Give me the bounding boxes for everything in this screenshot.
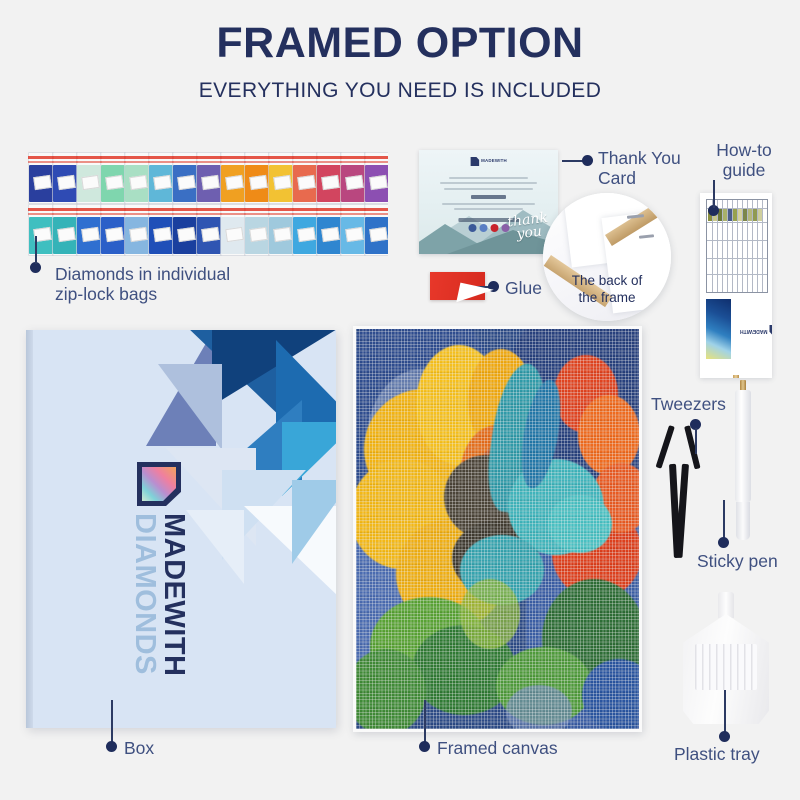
bag-zip-seal-2 [148, 161, 174, 163]
zip-lock-bag [52, 204, 78, 256]
card-brand-name: MADEWITH [481, 159, 507, 164]
bag-zip-seal [124, 208, 150, 211]
zip-lock-bag [244, 152, 270, 204]
zip-lock-bag [100, 204, 126, 256]
bag-zip-seal-2 [244, 213, 270, 215]
bag-zip-seal [76, 156, 102, 159]
bag-zip-seal-2 [124, 213, 150, 215]
infographic-stage: FRAMED OPTION EVERYTHING YOU NEED IS INC… [0, 0, 800, 800]
zip-lock-bag [364, 152, 388, 204]
bag-label-tag [297, 175, 315, 190]
card-promo-code [471, 195, 507, 199]
bag-zip-seal-2 [364, 161, 388, 163]
bag-label-tag [129, 175, 147, 190]
framed-canvas [353, 326, 642, 732]
bag-zip-seal-2 [148, 213, 174, 215]
bag-zip-seal [172, 156, 198, 159]
page-subtitle: EVERYTHING YOU NEED IS INCLUDED [0, 80, 800, 101]
bag-zip-seal [100, 156, 126, 159]
zip-lock-bag [52, 152, 78, 204]
bag-zip-seal-2 [268, 161, 294, 163]
bag-zip-seal [292, 156, 318, 159]
thank-you-card: MADEWITH thank you [419, 150, 558, 254]
card-body-text [436, 174, 542, 213]
zip-lock-bag [364, 204, 388, 256]
bag-zip-seal [316, 156, 342, 159]
bag-label-tag [105, 175, 123, 190]
zip-lock-bag [340, 152, 366, 204]
bag-zip-seal-2 [340, 161, 366, 163]
bag-label-tag [273, 227, 291, 242]
bag-zip-seal [244, 156, 270, 159]
bag-zip-seal-2 [268, 213, 294, 215]
bag-zip-seal [52, 208, 78, 211]
bag-zip-seal [340, 156, 366, 159]
bag-label-tag [201, 175, 219, 190]
zip-lock-bag [28, 204, 54, 256]
callout-label-how-to: How-to guide [694, 140, 794, 180]
zip-lock-bag [28, 152, 54, 204]
bag-zip-seal-2 [100, 213, 126, 215]
bag-zip-seal-2 [28, 213, 54, 215]
bag-label-tag [297, 227, 315, 242]
bag-zip-seal-2 [172, 213, 198, 215]
box-spine-edge [26, 330, 33, 728]
how-to-guide: MADEWITH [700, 193, 772, 378]
bag-zip-seal [148, 156, 174, 159]
callout-label-box: Box [124, 738, 154, 758]
bag-label-tag [225, 227, 243, 242]
diamond-gem-icon [770, 325, 773, 335]
callout-line-box [111, 700, 113, 744]
bag-label-tag [177, 227, 195, 242]
zip-lock-bag [316, 152, 342, 204]
callout-line-diamonds [35, 236, 37, 264]
twitter-icon [479, 224, 487, 232]
zip-lock-bag-row-top [28, 152, 388, 204]
zip-lock-bag [292, 204, 318, 256]
zip-lock-bag [172, 204, 198, 256]
zip-lock-bag [244, 204, 270, 256]
zip-lock-bag [124, 204, 150, 256]
box-brand-name-top: MADEWITH [159, 513, 188, 676]
callout-line-pen [723, 500, 725, 540]
callout-line-tray [724, 690, 726, 734]
callout-label-canvas: Framed canvas [437, 738, 558, 758]
box-polygon [292, 480, 336, 564]
page-title: FRAMED OPTION [0, 22, 800, 65]
plastic-tray-icon [683, 592, 769, 724]
callout-dot-canvas [419, 741, 430, 752]
zip-lock-bag [148, 152, 174, 204]
guide-brand-logo: MADEWITH [740, 325, 772, 335]
diamond-painting-mosaic [356, 329, 639, 729]
zip-lock-bag [268, 152, 294, 204]
bag-zip-seal [268, 208, 294, 211]
bag-zip-seal [220, 208, 246, 211]
color-swatch [743, 209, 747, 221]
zip-lock-bag [220, 152, 246, 204]
box-brand-logo: MADEWITH DIAMONDS [130, 462, 188, 676]
bag-zip-seal [28, 156, 54, 159]
frame-back-bubble: The back of the frame [543, 193, 671, 321]
zip-lock-bag [196, 204, 222, 256]
pen-grip [736, 502, 749, 540]
bag-zip-seal-2 [220, 213, 246, 215]
bag-label-tag [225, 175, 243, 190]
bag-zip-seal-2 [100, 161, 126, 163]
bag-zip-seal-2 [52, 213, 78, 215]
color-swatch [753, 209, 757, 221]
callout-line-how-to [713, 180, 715, 208]
guide-wooden-stick [733, 375, 739, 378]
bag-label-tag [345, 175, 363, 190]
bag-zip-seal [76, 208, 102, 211]
tray-ribs [695, 644, 757, 690]
callout-label-thank-you: Thank You Card [598, 148, 708, 188]
bag-label-tag [105, 227, 123, 242]
zip-lock-bag-row-bottom [28, 204, 388, 256]
callout-dot-pen [718, 537, 729, 548]
bag-zip-seal-2 [76, 161, 102, 163]
bag-zip-seal-2 [292, 213, 318, 215]
zip-lock-bag [292, 152, 318, 204]
bag-label-tag [153, 227, 171, 242]
pen-body [735, 390, 751, 502]
diamond-gem-icon [137, 462, 181, 506]
callout-dot-thank-you [582, 155, 593, 166]
zip-lock-bag [124, 152, 150, 204]
product-box: MADEWITH DIAMONDS [26, 330, 336, 728]
bag-zip-seal [316, 208, 342, 211]
bag-label-tag [321, 227, 339, 242]
bag-zip-seal [364, 208, 388, 211]
bag-zip-seal [172, 208, 198, 211]
zip-lock-bag [220, 204, 246, 256]
bag-zip-seal [340, 208, 366, 211]
color-swatch [733, 209, 737, 221]
bag-zip-seal-2 [28, 161, 54, 163]
pinterest-icon [490, 224, 498, 232]
card-brand-logo: MADEWITH [470, 157, 507, 166]
bag-label-tag [321, 175, 339, 190]
box-polygon [186, 510, 244, 584]
bag-zip-seal-2 [364, 213, 388, 215]
box-brand-name-bottom: DIAMONDS [130, 513, 159, 676]
bag-zip-seal-2 [196, 161, 222, 163]
color-swatch [723, 209, 727, 221]
mosaic-bead-grid [356, 329, 639, 729]
guide-brand-name: MADEWITH [740, 327, 768, 333]
bag-zip-seal-2 [172, 161, 198, 163]
color-swatch [748, 209, 752, 221]
bag-zip-seal [124, 156, 150, 159]
color-swatch [728, 209, 732, 221]
bag-zip-seal [196, 156, 222, 159]
bag-label-tag [81, 175, 99, 190]
callout-line-canvas [424, 700, 426, 744]
bag-label-tag [33, 175, 51, 190]
zip-lock-bag [148, 204, 174, 256]
callout-label-frame-back: The back of the frame [543, 273, 671, 307]
bag-label-tag [249, 227, 267, 242]
zip-lock-bag [172, 152, 198, 204]
bag-label-tag [57, 227, 75, 242]
diamond-gem-icon [470, 157, 479, 166]
callout-dot-box [106, 741, 117, 752]
callout-dot-tray [719, 731, 730, 742]
bag-zip-seal [268, 156, 294, 159]
bag-zip-seal-2 [220, 161, 246, 163]
bag-label-tag [345, 227, 363, 242]
bag-label-tag [369, 227, 387, 242]
bag-zip-seal [52, 156, 78, 159]
callout-label-diamonds: Diamonds in individual zip-lock bags [55, 264, 285, 304]
zip-lock-bag [268, 204, 294, 256]
zip-lock-bag [100, 152, 126, 204]
bag-zip-seal [220, 156, 246, 159]
bag-zip-seal [100, 208, 126, 211]
callout-line-tweezers [695, 428, 697, 454]
bag-zip-seal [196, 208, 222, 211]
zip-lock-bag [76, 152, 102, 204]
bag-label-tag [129, 227, 147, 242]
zip-lock-bag [196, 152, 222, 204]
color-swatch [758, 209, 762, 221]
card-social-icons [468, 224, 509, 232]
bag-label-tag [249, 175, 267, 190]
zip-lock-bag [76, 204, 102, 256]
zip-lock-bag [340, 204, 366, 256]
color-swatch [738, 209, 742, 221]
zip-lock-bag [316, 204, 342, 256]
bag-zip-seal [28, 208, 54, 211]
callout-label-pen: Sticky pen [697, 551, 778, 571]
bag-zip-seal-2 [292, 161, 318, 163]
sticky-pen-icon [735, 380, 751, 540]
bag-label-tag [273, 175, 291, 190]
callout-label-glue: Glue [505, 278, 542, 298]
bag-label-tag [177, 175, 195, 190]
bag-zip-seal-2 [196, 213, 222, 215]
bag-zip-seal-2 [124, 161, 150, 163]
callout-label-tray: Plastic tray [674, 744, 760, 764]
bag-zip-seal [244, 208, 270, 211]
bag-zip-seal [292, 208, 318, 211]
bag-label-tag [81, 227, 99, 242]
bag-label-tag [153, 175, 171, 190]
bag-zip-seal [148, 208, 174, 211]
bag-zip-seal-2 [316, 213, 342, 215]
bag-zip-seal-2 [244, 161, 270, 163]
bag-label-tag [201, 227, 219, 242]
bag-label-tag [57, 175, 75, 190]
bag-zip-seal-2 [340, 213, 366, 215]
bag-label-tag [369, 175, 387, 190]
bag-zip-seal-2 [316, 161, 342, 163]
callout-label-tweezers: Tweezers [651, 394, 726, 414]
bag-zip-seal-2 [76, 213, 102, 215]
bag-zip-seal [364, 156, 388, 159]
facebook-icon [468, 224, 476, 232]
guide-preview-image [706, 299, 731, 359]
bag-zip-seal-2 [52, 161, 78, 163]
